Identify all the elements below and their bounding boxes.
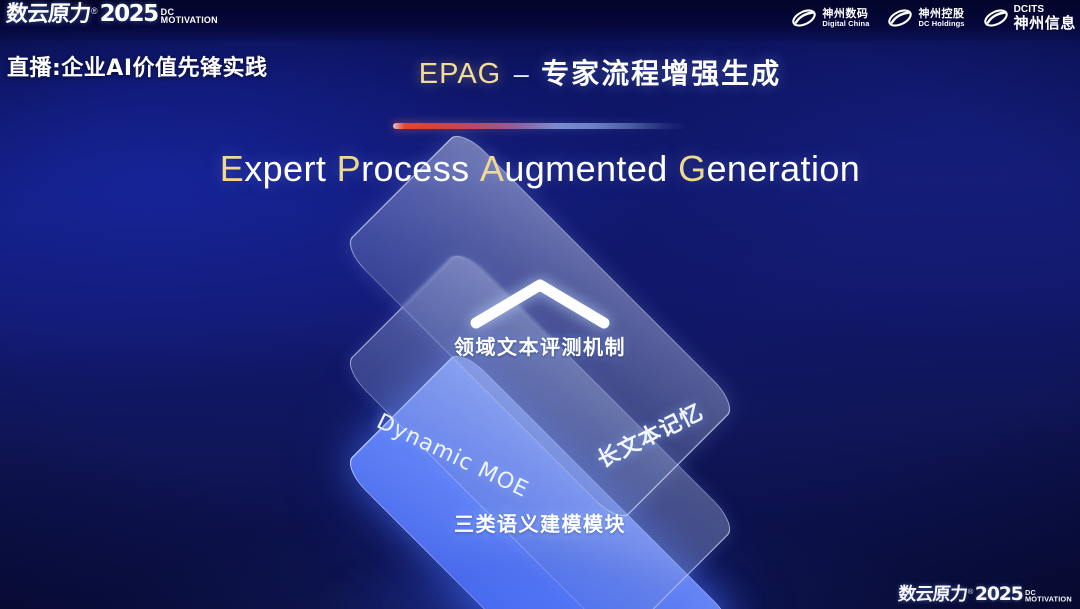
corporate-logo-group: 神州数码 Digital China 神州控股 DC Holdings [791, 5, 1076, 31]
footer-logo-year: 2025 [975, 585, 1023, 604]
layered-architecture-diagram [0, 215, 1080, 575]
diagram-underglow [240, 515, 840, 609]
logo-digital-china-en: Digital China [822, 20, 869, 28]
logo-dcits-cn: 神州信息 [1014, 16, 1076, 32]
swoosh-icon [887, 7, 913, 29]
brand-logo-motivation: MOTIVATION [161, 16, 218, 25]
swoosh-icon [983, 7, 1009, 29]
logo-dc-holdings: 神州控股 DC Holdings [887, 7, 964, 29]
headline-chinese: 专家流程增强生成 [541, 57, 781, 90]
event-brand-logo: 数云原力 ® 2025 DC MOTIVATION [6, 3, 218, 26]
logo-dcits-text: DCITS 神州信息 [1014, 5, 1076, 31]
subtitle-rest-generation: eneration [706, 148, 860, 189]
live-session-title: 直播:企业AI价值先锋实践 [7, 50, 268, 82]
event-brand-logo-footer: 数云原力 ® 2025 DC MOTIVATION [898, 585, 1072, 604]
logo-dc-holdings-en: DC Holdings [918, 20, 964, 28]
slide-subtitle: Expert Process Augmented Generation [0, 148, 1080, 190]
headline-dash: – [514, 59, 529, 89]
subtitle-rest-augmented: ugmented [504, 148, 667, 189]
brand-logo-year: 2025 [100, 3, 158, 26]
subtitle-cap-g: G [678, 148, 706, 189]
subtitle-cap-e: E [220, 148, 244, 189]
subtitle-rest-expert: xpert [244, 148, 326, 189]
logo-dc-holdings-text: 神州控股 DC Holdings [918, 8, 964, 27]
subtitle-cap-p: P [337, 148, 361, 189]
footer-logo-motivation: MOTIVATION [1025, 596, 1072, 603]
brand-logo-cn: 数云原力 [5, 4, 91, 26]
swoosh-icon [791, 7, 817, 29]
footer-logo-cn: 数云原力 [897, 586, 967, 604]
accent-gradient-rule [393, 123, 688, 129]
slide-canvas: 数云原力 ® 2025 DC MOTIVATION 直播:企业AI价值先锋实践 … [0, 0, 1080, 609]
headline-acronym: EPAG [419, 58, 501, 90]
logo-digital-china: 神州数码 Digital China [791, 7, 869, 29]
footer-logo-registered-mark: ® [968, 588, 973, 596]
brand-logo-registered-mark: ® [91, 6, 98, 16]
logo-dcits: DCITS 神州信息 [983, 5, 1076, 31]
subtitle-rest-process: rocess [361, 148, 469, 189]
subtitle-cap-a: A [480, 148, 504, 189]
logo-digital-china-text: 神州数码 Digital China [822, 8, 869, 27]
footer-logo-dc-motivation: DC MOTIVATION [1025, 589, 1072, 603]
brand-logo-dc-motivation: DC MOTIVATION [161, 8, 218, 25]
